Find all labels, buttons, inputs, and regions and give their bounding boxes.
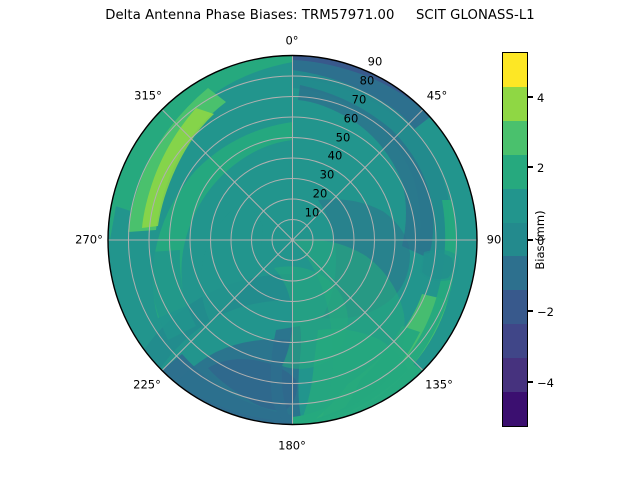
r-tick-20: 20 bbox=[313, 188, 328, 200]
theta-tick-270: 270° bbox=[75, 234, 103, 246]
theta-tick-180: 180° bbox=[278, 440, 306, 452]
theta-tick-90: 90 bbox=[487, 234, 502, 246]
theta-tick-135: 135° bbox=[425, 379, 453, 391]
polar-gridlines bbox=[108, 56, 477, 425]
colorbar-axis-label: Bias (mm) bbox=[533, 210, 547, 269]
theta-tick-225: 225° bbox=[133, 379, 161, 391]
theta-tick-45: 45° bbox=[427, 90, 447, 102]
r-tick-70: 70 bbox=[352, 94, 367, 106]
r-tick-80: 80 bbox=[360, 75, 375, 87]
r-tick-90: 90 bbox=[368, 56, 383, 68]
theta-tick-0: 0° bbox=[285, 35, 298, 47]
figure-canvas: Delta Antenna Phase Biases: TRM57971.00 … bbox=[0, 0, 640, 480]
r-tick-30: 30 bbox=[320, 169, 335, 181]
r-tick-50: 50 bbox=[336, 132, 351, 144]
r-tick-10: 10 bbox=[305, 207, 320, 219]
theta-tick-315: 315° bbox=[134, 90, 162, 102]
r-tick-60: 60 bbox=[344, 113, 359, 125]
r-tick-40: 40 bbox=[328, 150, 343, 162]
